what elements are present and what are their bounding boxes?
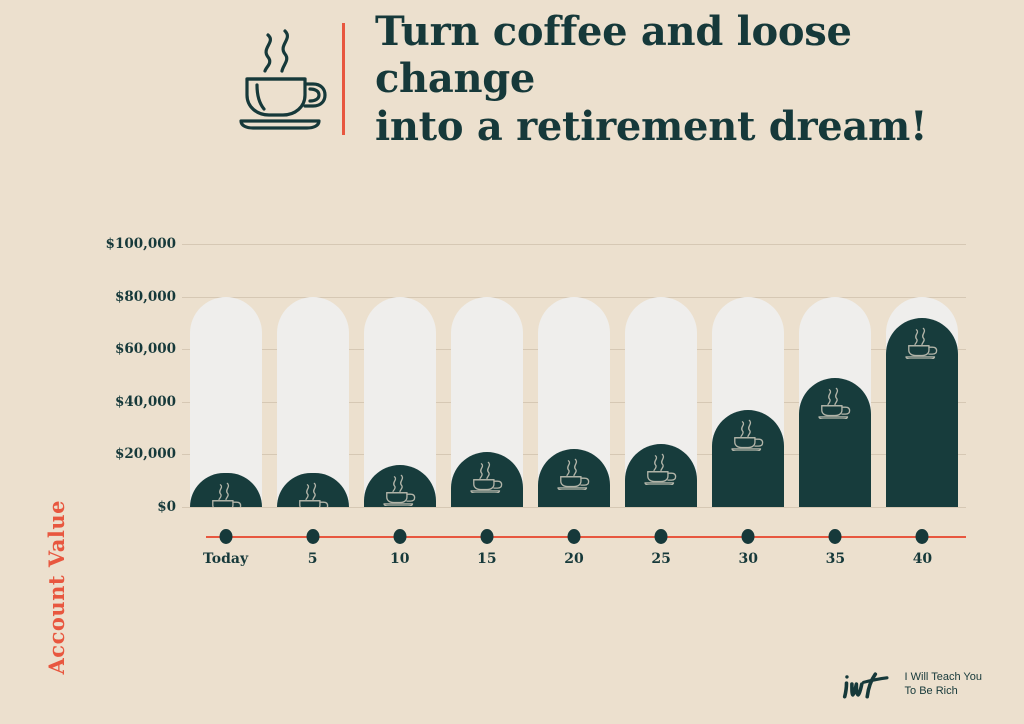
header: Turn coffee and loose change into a reti…: [232, 18, 972, 140]
bar-fill[interactable]: [886, 318, 958, 507]
bar-group[interactable]: [538, 244, 610, 507]
coffee-cup-icon: [555, 458, 593, 490]
iwt-script-logo-icon: [842, 668, 896, 702]
coffee-cup-icon: [903, 327, 941, 359]
x-axis-tick-label: 30: [738, 551, 757, 567]
coffee-cup-icon: [207, 482, 245, 507]
x-axis-tick-label: 10: [390, 551, 409, 567]
infographic-canvas: Turn coffee and loose change into a reti…: [0, 0, 1024, 724]
x-axis-dot: [393, 529, 406, 544]
brand-footer: I Will Teach You To Be Rich: [842, 668, 982, 702]
y-axis-tick-label: $20,000: [115, 446, 176, 462]
x-axis-tick-label: 35: [826, 551, 845, 567]
bar-group[interactable]: [277, 244, 349, 507]
x-axis: Today510152025303540: [182, 535, 966, 539]
y-axis-tick-label: $60,000: [115, 341, 176, 357]
tagline-line-1: I Will Teach You: [905, 671, 982, 685]
bar-fill[interactable]: [712, 410, 784, 507]
x-axis-dot: [480, 529, 493, 544]
bar-group[interactable]: [451, 244, 523, 507]
header-divider: [342, 23, 345, 135]
x-axis-dot: [655, 529, 668, 544]
x-axis-dot: [742, 529, 755, 544]
title-line-1: Turn coffee and loose change: [375, 8, 972, 102]
bar-fill[interactable]: [799, 378, 871, 507]
y-axis-tick-label: $100,000: [106, 236, 176, 252]
y-axis-tick-labels: $0$20,000$40,000$60,000$80,000$100,000: [98, 244, 176, 507]
x-axis-dot: [219, 529, 232, 544]
coffee-cup-icon: [642, 453, 680, 485]
bar-group[interactable]: [625, 244, 697, 507]
title-line-2: into a retirement dream!: [375, 103, 972, 150]
coffee-cup-icon: [729, 419, 767, 451]
x-axis-tick-label: Today: [203, 551, 248, 567]
x-axis-tick-label: 25: [651, 551, 670, 567]
x-axis-line: [206, 536, 966, 538]
brand-tagline: I Will Teach You To Be Rich: [905, 671, 982, 699]
x-axis-tick-label: 5: [308, 551, 318, 567]
tagline-line-2: To Be Rich: [905, 685, 982, 699]
bar-group[interactable]: [712, 244, 784, 507]
bar-group[interactable]: [190, 244, 262, 507]
coffee-cup-icon: [232, 23, 338, 135]
x-axis-tick-label: 20: [564, 551, 583, 567]
y-axis-tick-label: $40,000: [115, 394, 176, 410]
coffee-cup-icon: [381, 474, 419, 506]
coffee-cup-icon: [468, 461, 506, 493]
gridline: [182, 507, 966, 508]
y-axis-tick-label: $0: [157, 499, 176, 515]
x-axis-dot: [916, 529, 929, 544]
x-axis-dot: [568, 529, 581, 544]
y-axis-title: Account Value: [44, 500, 70, 675]
y-axis-tick-label: $80,000: [115, 289, 176, 305]
bar-series: [182, 244, 966, 507]
x-axis-tick-label: 15: [477, 551, 496, 567]
bar-group[interactable]: [364, 244, 436, 507]
page-title: Turn coffee and loose change into a reti…: [375, 8, 972, 150]
x-axis-dot: [829, 529, 842, 544]
coffee-cup-icon: [816, 387, 854, 419]
bar-group[interactable]: [886, 244, 958, 507]
x-axis-dot: [306, 529, 319, 544]
x-axis-tick-label: 40: [913, 551, 932, 567]
coffee-cup-icon: [294, 482, 332, 507]
chart-area: Account Value $0$20,000$40,000$60,000$80…: [0, 232, 1024, 592]
bar-group[interactable]: [799, 244, 871, 507]
